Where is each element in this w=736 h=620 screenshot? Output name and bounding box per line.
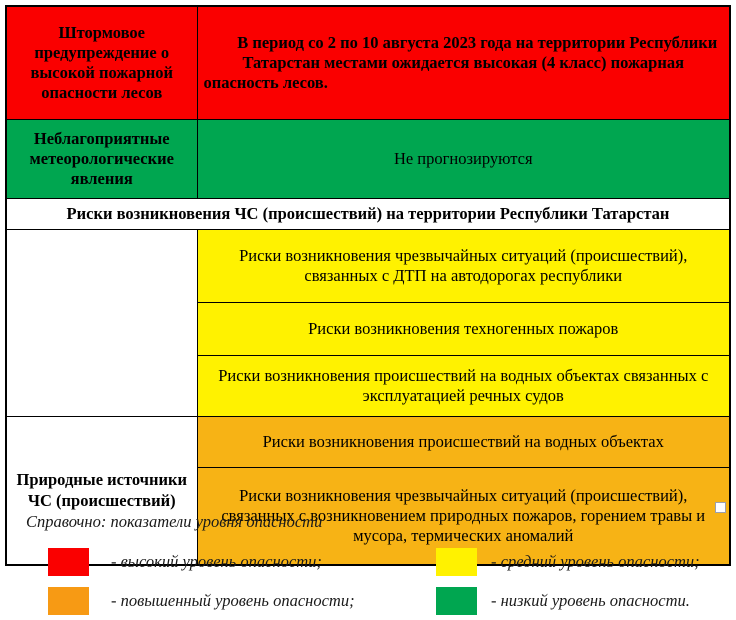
selection-handle[interactable] bbox=[715, 502, 726, 513]
legend-label-medium: - средний уровень опасности; bbox=[491, 552, 700, 572]
legend-item-high: - высокий уровень опасности; bbox=[0, 548, 420, 576]
risk-text-technogenic-fires: Риски возникновения техногенных пожаров bbox=[197, 303, 730, 356]
swatch-elevated-icon bbox=[48, 587, 89, 615]
risk-text-traffic-accidents: Риски возникновения чрезвычайных ситуаци… bbox=[197, 230, 730, 303]
swatch-medium-icon bbox=[436, 548, 477, 576]
legend-item-low: - низкий уровень опасности. bbox=[420, 587, 736, 615]
legend-row: - высокий уровень опасности; - средний у… bbox=[0, 542, 736, 581]
swatch-low-icon bbox=[436, 587, 477, 615]
section-header: Риски возникновения ЧС (происшествий) на… bbox=[6, 199, 730, 230]
risk-text-water-objects: Риски возникновения происшествий на водн… bbox=[197, 417, 730, 468]
risk-table: Штормовое предупреждение о высокой пожар… bbox=[5, 5, 731, 566]
table-row-section-header: Риски возникновения ЧС (происшествий) на… bbox=[6, 199, 730, 230]
legend-grid: - высокий уровень опасности; - средний у… bbox=[0, 542, 736, 620]
table-row: Риски возникновения чрезвычайных ситуаци… bbox=[6, 230, 730, 303]
risk-table-sheet: Штормовое предупреждение о высокой пожар… bbox=[5, 5, 729, 566]
legend-row: - повышенный уровень опасности; - низкий… bbox=[0, 581, 736, 620]
adverse-weather-label: Неблагоприятные метеорологические явлени… bbox=[6, 120, 197, 199]
risk-group-label-blank bbox=[6, 230, 197, 417]
legend-item-elevated: - повышенный уровень опасности; bbox=[0, 587, 420, 615]
table-row: Природные источники ЧС (происшествий) Ри… bbox=[6, 417, 730, 468]
table-row-adverse-weather: Неблагоприятные метеорологические явлени… bbox=[6, 120, 730, 199]
legend-item-medium: - средний уровень опасности; bbox=[420, 548, 736, 576]
storm-warning-text: В период со 2 по 10 августа 2023 года на… bbox=[197, 6, 730, 120]
legend-title: Справочно: показатели уровня опасности bbox=[26, 512, 322, 532]
risk-text-river-vessels: Риски возникновения происшествий на водн… bbox=[197, 356, 730, 417]
swatch-high-icon bbox=[48, 548, 89, 576]
storm-warning-label: Штормовое предупреждение о высокой пожар… bbox=[6, 6, 197, 120]
adverse-weather-text: Не прогнозируются bbox=[197, 120, 730, 199]
table-row-storm-warning: Штормовое предупреждение о высокой пожар… bbox=[6, 6, 730, 120]
legend-label-high: - высокий уровень опасности; bbox=[111, 552, 322, 572]
